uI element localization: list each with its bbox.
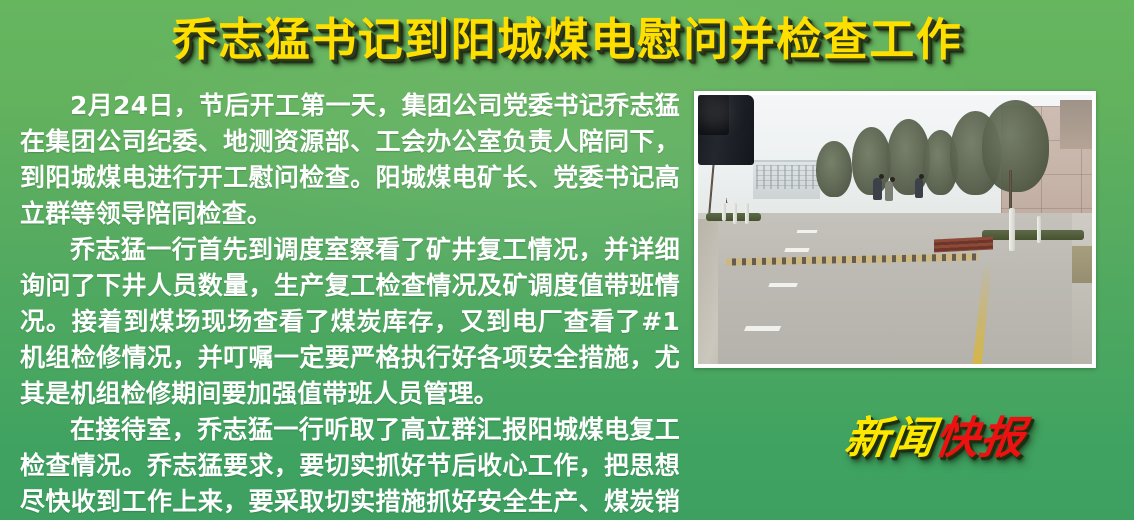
- photo-white-lane-dash-1: [796, 230, 817, 233]
- photo-background-person-1: [873, 178, 882, 200]
- photo-white-lane-dash-3: [768, 283, 797, 287]
- article-paragraph-3: 在接待室，乔志猛一行听取了高立群汇报阳城煤电复工检查情况。乔志猛要求，要切实抓好…: [20, 412, 680, 520]
- photo-bollard-4: [1009, 208, 1015, 251]
- article-body: 2月24日，节后开工第一天，集团公司党委书记乔志猛在集团公司纪委、地测资源部、工…: [20, 88, 680, 520]
- photo-white-lane-dash-2: [784, 248, 809, 252]
- photo-tree-1: [816, 141, 851, 197]
- page-title: 乔志猛书记到阳城煤电慰问并检查工作: [172, 12, 963, 68]
- photo-plant-building-upper: [1060, 100, 1092, 148]
- photo-background-person-2: [885, 181, 893, 201]
- photo-bollard-5: [1037, 216, 1041, 243]
- photo-man-right-blur: [698, 95, 732, 129]
- photo-tree-6: [982, 100, 1049, 191]
- photo-background-person-3: [915, 178, 923, 198]
- photo-bollard-2: [733, 203, 737, 225]
- article-paragraph-2: 乔志猛一行首先到调度室察看了矿井复工情况，并详细询问了下井人员数量，生产复工检查…: [20, 232, 680, 412]
- news-poster: 乔志猛书记到阳城煤电慰问并检查工作 2月24日，节后开工第一天，集团公司党委书记…: [0, 0, 1134, 520]
- photo-white-lane-dash-4: [744, 326, 782, 331]
- poster-title-bar: 乔志猛书记到阳城煤电慰问并检查工作: [0, 12, 1134, 68]
- news-photo: [698, 95, 1092, 364]
- photo-hedge-right: [982, 230, 1084, 241]
- article-paragraph-1: 2月24日，节后开工第一天，集团公司党委书记乔志猛在集团公司纪委、地测资源部、工…: [20, 88, 680, 232]
- photo-red-steel-stack: [934, 236, 993, 253]
- photo-bollard-3: [745, 203, 749, 225]
- news-photo-frame: [694, 91, 1096, 368]
- badge-word-flash: 快报: [931, 413, 1028, 465]
- badge-word-news: 新闻: [841, 413, 938, 465]
- photo-bollard-1: [722, 203, 726, 222]
- news-flash-badge: 新闻快报: [845, 413, 1025, 465]
